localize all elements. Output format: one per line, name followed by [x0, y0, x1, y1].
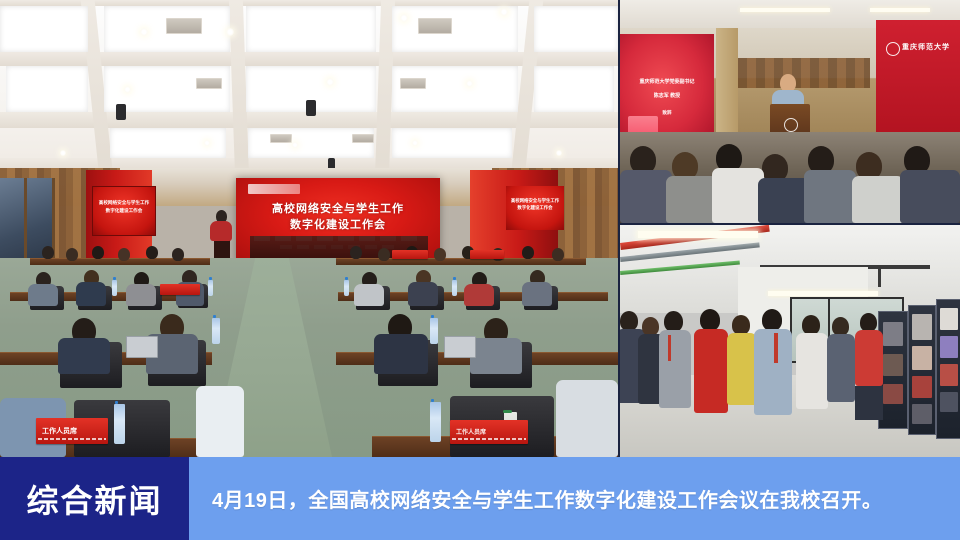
photo-seam-horizontal [618, 223, 960, 225]
light-tube [768, 291, 878, 296]
side-screen-right-line1: 高校网络安全与学生工作 [506, 198, 564, 204]
banner-text: 重庆师范大学 [902, 42, 950, 52]
photo-seam-vertical [618, 0, 620, 457]
laptop [444, 336, 476, 358]
stage-banner-line2: 数字化建设工作会 [236, 216, 440, 232]
caption-bar: 综合新闻 4月19日，全国高校网络安全与学生工作数字化建设工作会议在我校召开。 [0, 457, 960, 540]
main-scene: 高校网络安全与学生工作 数字化建设工作会 高校网络安全与学生工作 数字化建设工作… [0, 0, 618, 457]
photo-speaker-at-podium: 重庆师范大学党委副书记 陈志军 教授 致辞 重庆师范大学 [620, 0, 960, 223]
presentation-screen: 重庆师范大学党委副书记 陈志军 教授 致辞 [620, 34, 714, 144]
desk-sign-staff-left: 工作人员席 [36, 418, 108, 444]
exhibition-panel [936, 299, 960, 439]
bottom-right-scene [620, 225, 960, 457]
caption-category-text: 综合新闻 [26, 476, 162, 522]
light-tube [638, 231, 758, 238]
caption-body: 4月19日，全国高校网络安全与学生工作数字化建设工作会议在我校召开。 [189, 457, 960, 540]
desk-sign [160, 284, 200, 295]
university-logo [248, 184, 300, 194]
column [716, 28, 738, 146]
audience [620, 132, 960, 223]
desk-sign-left-text: 工作人员席 [42, 426, 77, 436]
ceiling-speaker-icon [116, 104, 126, 120]
podium-seal-icon [784, 118, 798, 132]
desk-sign-staff-right: 工作人员席 [450, 420, 528, 444]
laptop [126, 336, 158, 358]
water-bottle [430, 402, 441, 442]
top-right-scene: 重庆师范大学党委副书记 陈志军 教授 致辞 重庆师范大学 [620, 0, 960, 223]
caption-category-label: 综合新闻 [0, 457, 189, 540]
side-screen-left: 高校网络安全与学生工作 数字化建设工作会 [92, 186, 156, 236]
side-screen-right: 高校网络安全与学生工作 数字化建设工作会 [506, 186, 564, 230]
presenter-torso [210, 221, 232, 241]
side-screen-right-line2: 数字化建设工作会 [506, 205, 564, 211]
screen-line1: 重庆师范大学党委副书记 [620, 78, 714, 85]
photo-exhibition-tour [620, 225, 960, 457]
exhibition-panel [908, 305, 936, 435]
ceiling-speaker-icon [306, 100, 316, 116]
university-seal-icon [886, 42, 900, 56]
side-screen-left-line1: 高校网络安全与学生工作 [93, 200, 155, 206]
caption-text: 4月19日，全国高校网络安全与学生工作数字化建设工作会议在我校召开。 [212, 484, 882, 513]
water-bottle [114, 404, 125, 444]
desk-sign [470, 250, 504, 259]
photo-conference-hall-wide: 高校网络安全与学生工作 数字化建设工作会 高校网络安全与学生工作 数字化建设工作… [0, 0, 618, 457]
desk-sign [392, 250, 428, 259]
ceiling [0, 0, 618, 178]
red-university-banner: 重庆师范大学 [876, 20, 960, 146]
water-bottle [430, 318, 438, 344]
screenshot-root: 高校网络安全与学生工作 数字化建设工作会 高校网络安全与学生工作 数字化建设工作… [0, 0, 960, 540]
water-bottle [212, 318, 220, 344]
side-screen-left-line2: 数字化建设工作会 [93, 208, 155, 214]
stage-banner-line1: 高校网络安全与学生工作 [236, 200, 440, 216]
screen-line2: 陈志军 教授 [620, 92, 714, 99]
desk-sign-right-text: 工作人员席 [456, 427, 486, 436]
